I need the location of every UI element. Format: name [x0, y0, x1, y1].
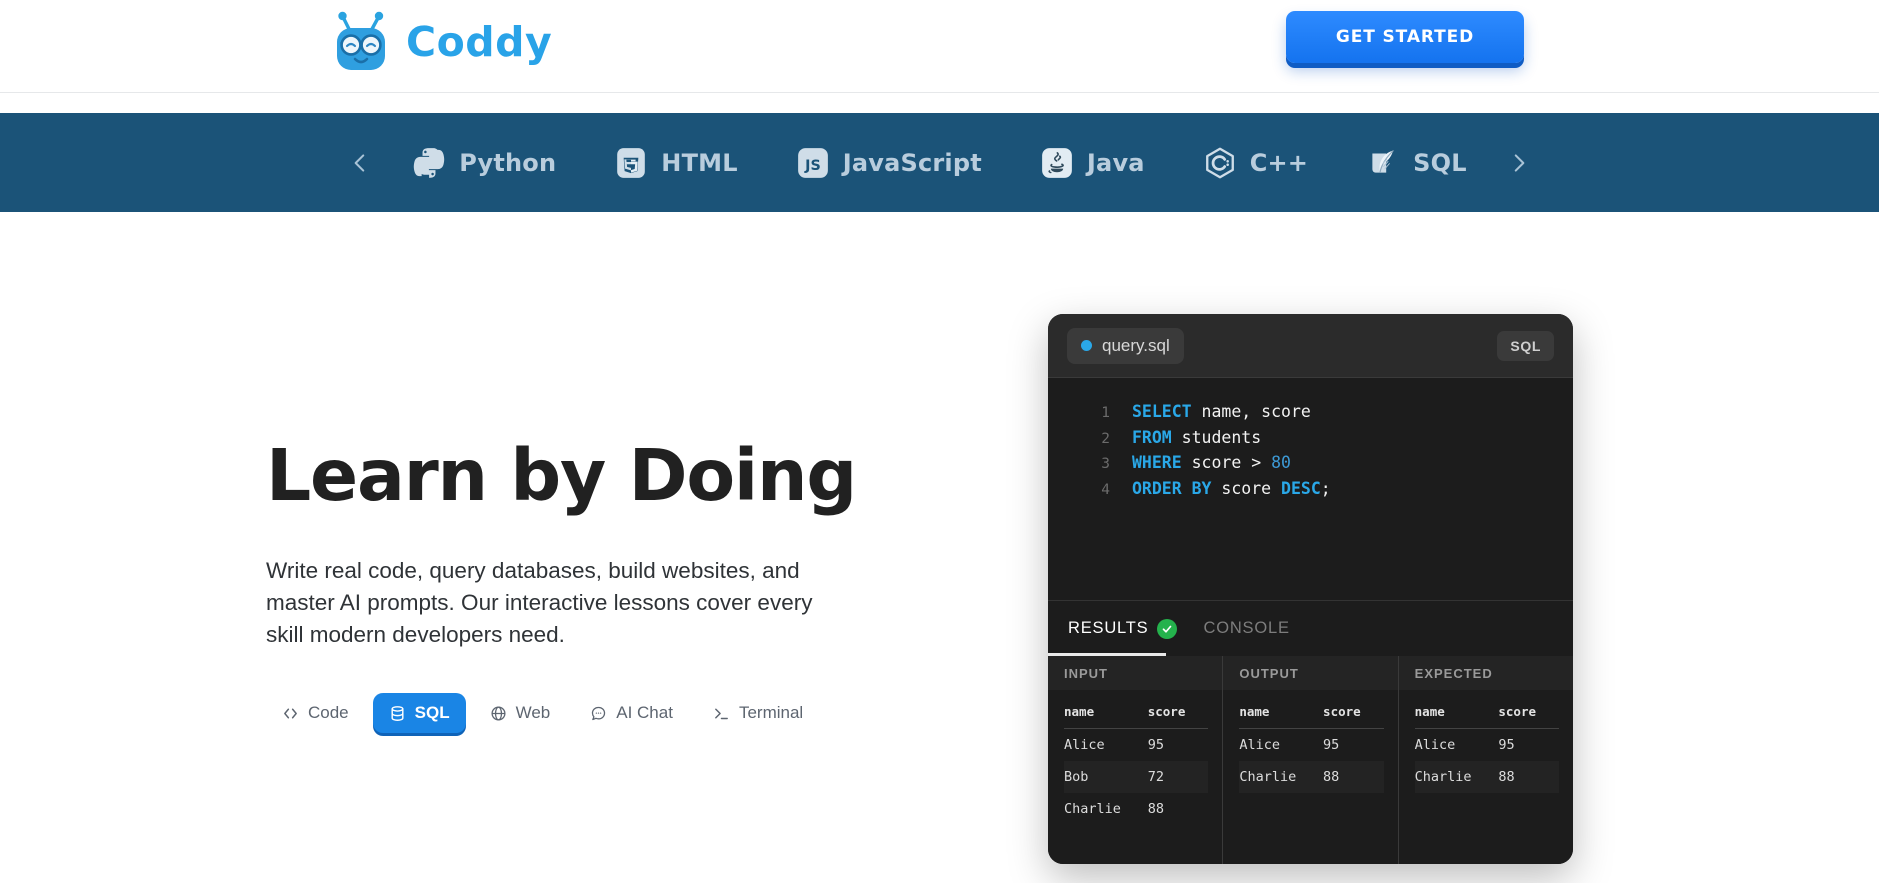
line-number: 4 [1080, 479, 1110, 501]
results-tab-bar: RESULTS CONSOLE [1048, 600, 1573, 656]
site-header: Coddy GET STARTED [0, 0, 1879, 93]
language-label: HTML [661, 149, 737, 177]
tab-results[interactable]: RESULTS [1068, 601, 1177, 656]
table-column-header: score [1323, 704, 1384, 729]
feature-tabs: Code SQL Web [266, 693, 886, 733]
code-brackets-icon [282, 705, 299, 722]
table-column-header: name [1415, 704, 1499, 729]
hero-subtitle: Write real code, query databases, build … [266, 555, 856, 651]
python-icon [412, 146, 446, 180]
table-cell: 72 [1148, 761, 1209, 793]
line-number: 3 [1080, 453, 1110, 475]
result-table: namescoreAlice95Bob72Charlie88 [1064, 704, 1208, 825]
tab-web[interactable]: Web [474, 693, 567, 733]
file-tab-query-sql[interactable]: query.sql [1067, 328, 1184, 364]
language-item-cpp[interactable]: C++ [1174, 133, 1337, 193]
results-tab-label: RESULTS [1068, 619, 1148, 638]
code-text: FROM students [1132, 425, 1261, 451]
language-label: C++ [1250, 149, 1308, 177]
html5-icon [614, 146, 648, 180]
language-item-javascript[interactable]: JS JavaScript [767, 133, 1011, 193]
language-item-java[interactable]: Java [1011, 133, 1174, 193]
table-cell: Alice [1239, 729, 1323, 762]
table-cell: Bob [1064, 761, 1148, 793]
line-number: 2 [1080, 428, 1110, 450]
results-column-headers: INPUT OUTPUT EXPECTED [1048, 656, 1573, 690]
file-name-label: query.sql [1102, 336, 1170, 356]
code-text: SELECT name, score [1132, 399, 1311, 425]
table-cell: Alice [1064, 729, 1148, 762]
table-cell: Charlie [1064, 793, 1148, 825]
language-item-python[interactable]: Python [383, 133, 585, 193]
language-nav-bar: Python HTML JS JavaScript [0, 113, 1879, 212]
table-row: Charlie88 [1415, 761, 1559, 793]
language-label: Python [459, 149, 556, 177]
check-circle-icon [1157, 619, 1177, 639]
table-cell: Charlie [1415, 761, 1499, 793]
code-text: ORDER BY score DESC; [1132, 476, 1331, 502]
code-line: 1SELECT name, score [1048, 399, 1573, 425]
brand-logo[interactable]: Coddy [330, 9, 552, 75]
code-editor-area[interactable]: 1SELECT name, score2FROM students3WHERE … [1048, 378, 1573, 600]
code-text: WHERE score > 80 [1132, 450, 1291, 476]
result-table: namescoreAlice95Charlie88 [1239, 704, 1383, 793]
table-row: Alice95 [1239, 729, 1383, 762]
table-cell: 88 [1148, 793, 1209, 825]
table-cell: 95 [1323, 729, 1384, 762]
result-column: namescoreAlice95Charlie88 [1223, 690, 1398, 864]
chat-bubble-icon [590, 705, 607, 722]
coddy-robot-logo-icon [330, 9, 392, 75]
language-nav-prev-button[interactable] [337, 140, 383, 186]
page-title: Learn by Doing [266, 440, 886, 512]
table-column-header: score [1148, 704, 1209, 729]
table-cell: 88 [1323, 761, 1384, 793]
table-cell: 88 [1498, 761, 1559, 793]
terminal-prompt-icon [713, 705, 730, 722]
language-label: SQL [1413, 149, 1467, 177]
column-title-expected: EXPECTED [1399, 656, 1573, 690]
language-label: Java [1087, 149, 1145, 177]
java-icon [1040, 146, 1074, 180]
table-row: Charlie88 [1064, 793, 1208, 825]
svg-text:JS: JS [804, 157, 821, 173]
table-row: Alice95 [1064, 729, 1208, 762]
chevron-right-icon [1506, 150, 1532, 176]
code-line: 3WHERE score > 80 [1048, 450, 1573, 476]
tab-ai-chat[interactable]: AI Chat [574, 693, 689, 733]
tab-code[interactable]: Code [266, 693, 365, 733]
table-row: Bob72 [1064, 761, 1208, 793]
code-line: 2FROM students [1048, 425, 1573, 451]
table-cell: 95 [1148, 729, 1209, 762]
javascript-icon: JS [796, 146, 830, 180]
tab-label: Terminal [739, 703, 803, 723]
table-cell: 95 [1498, 729, 1559, 762]
language-label: JavaScript [843, 149, 982, 177]
editor-language-badge: SQL [1497, 331, 1554, 361]
table-row: Charlie88 [1239, 761, 1383, 793]
code-editor-panel: query.sql SQL 1SELECT name, score2FROM s… [1048, 314, 1573, 864]
tab-label: Code [308, 703, 349, 723]
column-title-output: OUTPUT [1223, 656, 1398, 690]
console-tab-label: CONSOLE [1203, 619, 1289, 638]
database-icon [389, 705, 406, 722]
brand-name: Coddy [406, 22, 552, 63]
cpp-icon [1203, 146, 1237, 180]
table-column-header: score [1498, 704, 1559, 729]
tab-label: SQL [415, 703, 450, 723]
tab-console[interactable]: CONSOLE [1203, 601, 1289, 656]
globe-icon [490, 705, 507, 722]
language-item-html[interactable]: HTML [585, 133, 766, 193]
table-cell: Charlie [1239, 761, 1323, 793]
unsaved-dot-icon [1081, 340, 1092, 351]
table-cell: Alice [1415, 729, 1499, 762]
tab-sql[interactable]: SQL [373, 693, 466, 733]
language-nav-next-button[interactable] [1496, 140, 1542, 186]
result-column: namescoreAlice95Bob72Charlie88 [1048, 690, 1223, 864]
tab-label: Web [516, 703, 551, 723]
result-column: namescoreAlice95Charlie88 [1399, 690, 1573, 864]
column-title-input: INPUT [1048, 656, 1223, 690]
line-number: 1 [1080, 402, 1110, 424]
code-line: 4ORDER BY score DESC; [1048, 476, 1573, 502]
table-column-header: name [1064, 704, 1148, 729]
tab-terminal[interactable]: Terminal [697, 693, 819, 733]
table-row: Alice95 [1415, 729, 1559, 762]
tab-label: AI Chat [616, 703, 673, 723]
sql-feather-icon [1366, 146, 1400, 180]
results-grid: namescoreAlice95Bob72Charlie88namescoreA… [1048, 690, 1573, 864]
hero-section: Learn by Doing Write real code, query da… [266, 440, 886, 733]
get-started-button[interactable]: GET STARTED [1286, 11, 1524, 63]
table-column-header: name [1239, 704, 1323, 729]
language-item-sql[interactable]: SQL [1337, 133, 1496, 193]
language-list: Python HTML JS JavaScript [383, 133, 1495, 193]
editor-header: query.sql SQL [1048, 314, 1573, 378]
chevron-left-icon [347, 150, 373, 176]
result-table: namescoreAlice95Charlie88 [1415, 704, 1559, 793]
